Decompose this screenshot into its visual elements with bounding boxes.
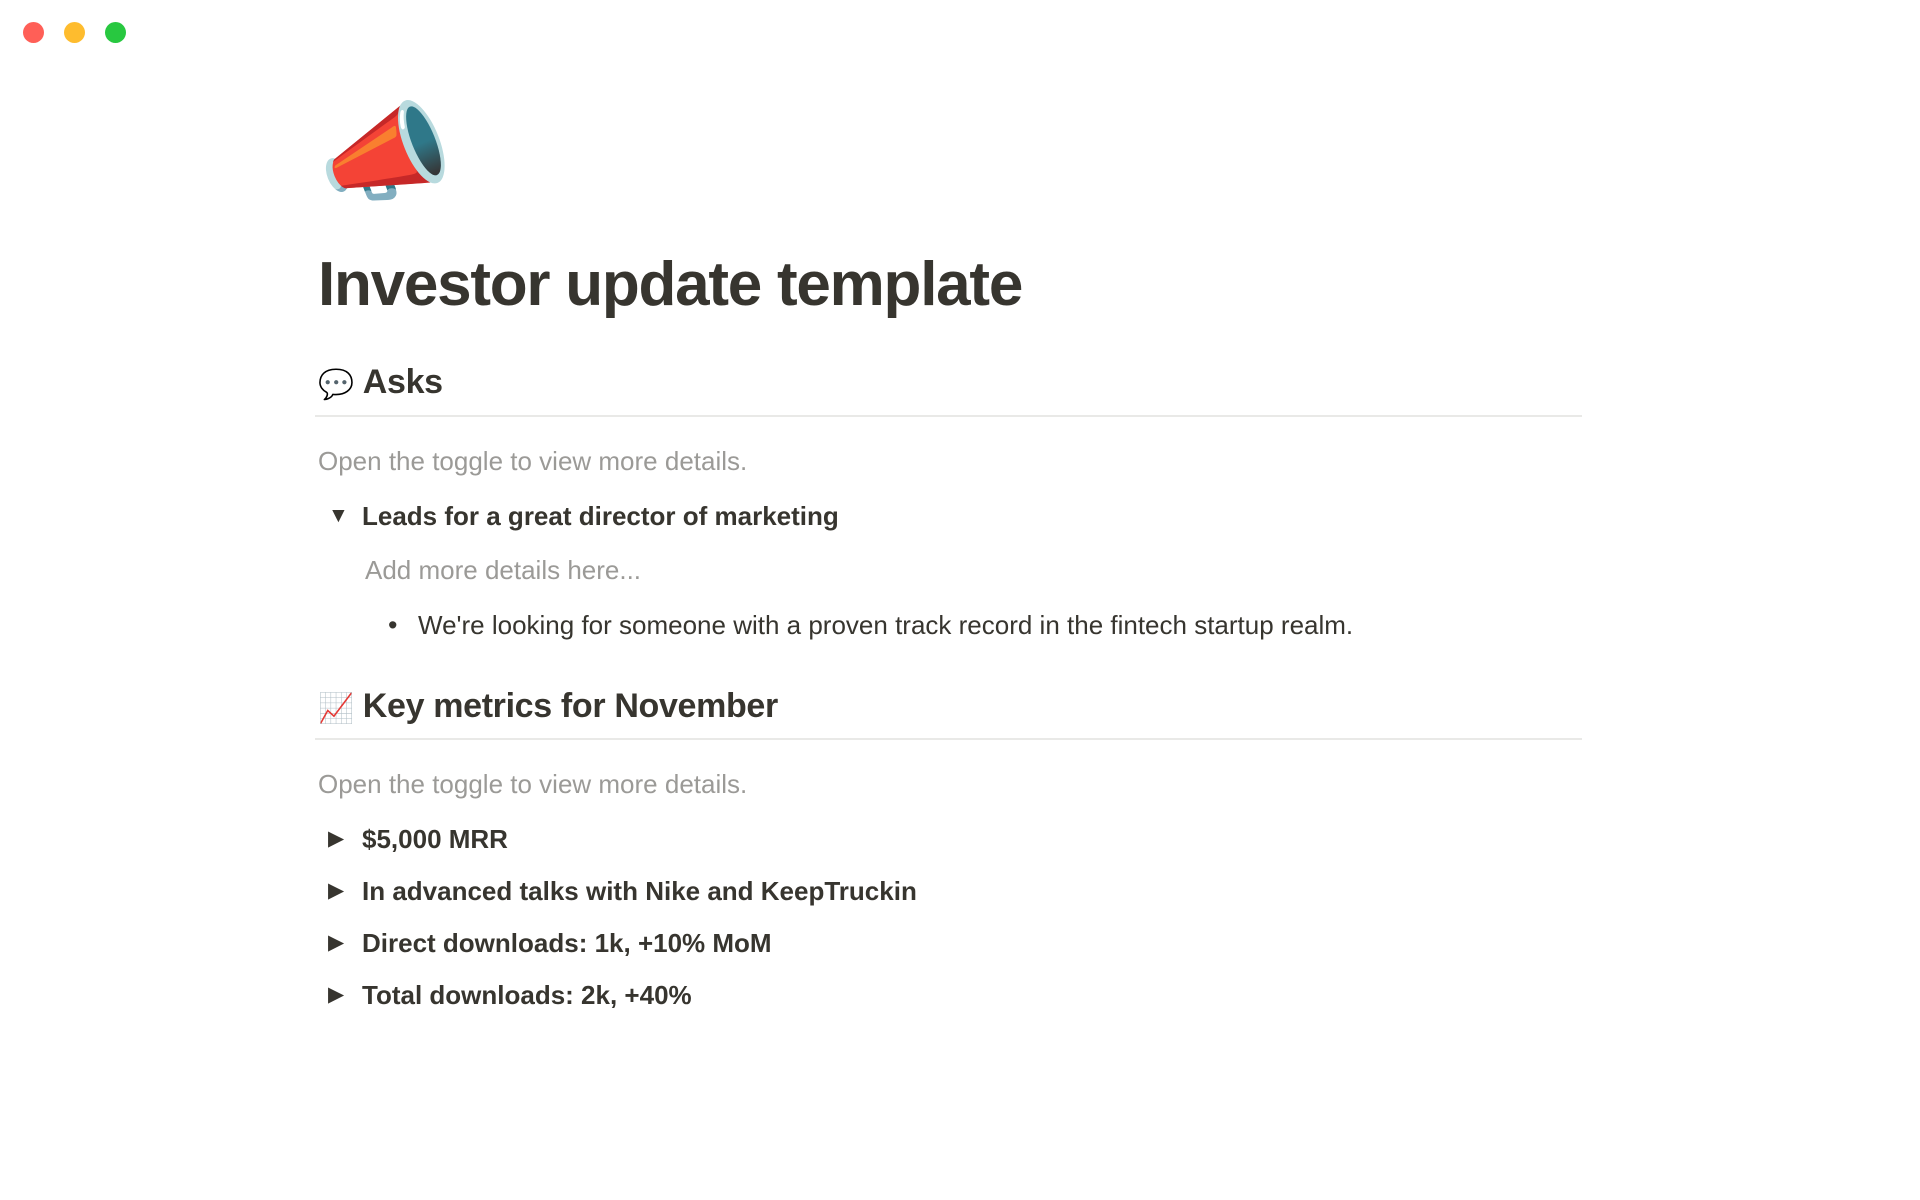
toggle-row[interactable]: In advanced talks with Nike and KeepTruc… (318, 865, 1588, 917)
megaphone-emoji[interactable]: 📣 (318, 100, 1588, 228)
toggle-row[interactable]: Leads for a great director of marketing (318, 492, 1588, 540)
toggle-row[interactable]: $5,000 MRR (318, 813, 1588, 865)
document-page: 📣 Investor update template 💬 Asks Open t… (0, 62, 1920, 1200)
toggle-label: Total downloads: 2k, +40% (362, 978, 692, 1012)
window-controls (23, 22, 126, 43)
toggle-body: Add more details here... We're looking f… (365, 548, 1588, 647)
bullet-text: We're looking for someone with a proven … (418, 607, 1353, 643)
section-divider (315, 738, 1582, 740)
toggle-label: $5,000 MRR (362, 822, 508, 856)
toggle-label: Leads for a great director of marketing (362, 499, 839, 533)
page-title[interactable]: Investor update template (318, 250, 1588, 319)
chevron-right-icon[interactable] (328, 926, 362, 960)
list-item[interactable]: We're looking for someone with a proven … (365, 603, 1588, 647)
toggle-label: In advanced talks with Nike and KeepTruc… (362, 874, 917, 908)
document-content: 📣 Investor update template 💬 Asks Open t… (318, 62, 1588, 1021)
bullet-dot-icon (388, 607, 418, 643)
toggle-body-placeholder[interactable]: Add more details here... (365, 548, 1588, 593)
close-window-button[interactable] (23, 22, 44, 43)
toggle-label: Direct downloads: 1k, +10% MoM (362, 926, 772, 960)
window-titlebar (0, 0, 1920, 62)
bullet-list: We're looking for someone with a proven … (365, 603, 1588, 647)
toggle-row[interactable]: Direct downloads: 1k, +10% MoM (318, 917, 1588, 969)
key-metrics-hint-text: Open the toggle to view more details. (318, 765, 1588, 804)
heading-key-metrics-label: Key metrics for November (363, 685, 778, 728)
section-divider (315, 415, 1582, 417)
heading-key-metrics[interactable]: 📈 Key metrics for November (318, 685, 1588, 739)
chevron-right-icon[interactable] (328, 874, 362, 908)
asks-hint-text: Open the toggle to view more details. (318, 442, 1588, 481)
speech-balloon-emoji: 💬 (318, 370, 354, 399)
zoom-window-button[interactable] (105, 22, 126, 43)
heading-asks-label: Asks (363, 361, 443, 404)
chevron-right-icon[interactable] (328, 822, 362, 856)
section-key-metrics: 📈 Key metrics for November Open the togg… (318, 685, 1588, 1022)
toggle-row[interactable]: Total downloads: 2k, +40% (318, 969, 1588, 1021)
minimize-window-button[interactable] (64, 22, 85, 43)
app-window: 📣 Investor update template 💬 Asks Open t… (0, 0, 1920, 1200)
chart-increasing-emoji: 📈 (318, 694, 354, 723)
heading-asks[interactable]: 💬 Asks (318, 361, 1588, 415)
asks-toggle-list: Leads for a great director of marketing … (318, 492, 1588, 647)
chevron-down-icon[interactable] (328, 499, 362, 533)
section-asks: 💬 Asks Open the toggle to view more deta… (318, 361, 1588, 647)
key-metrics-toggle-list: $5,000 MRR In advanced talks with Nike a… (318, 813, 1588, 1021)
chevron-right-icon[interactable] (328, 978, 362, 1012)
